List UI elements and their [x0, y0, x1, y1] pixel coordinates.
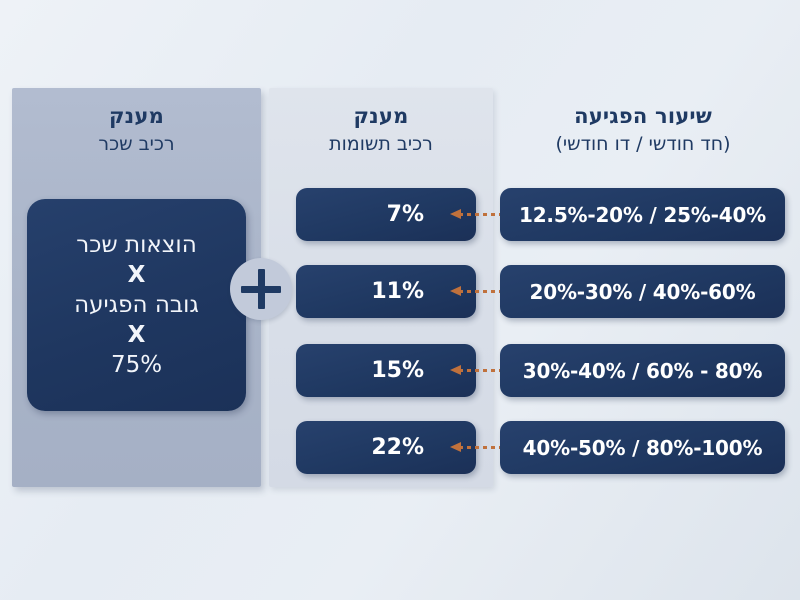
rate-column-subtitle: (חד חודשי / דו חודשי)	[497, 133, 789, 156]
dotted-arrow-left-icon	[450, 212, 500, 217]
rate-column-header: שיעור הפגיעה (חד חודשי / דו חודשי)	[497, 104, 789, 156]
damage-rate-pill: 20%-30% / 40%-60%	[500, 265, 785, 318]
inputs-column-subtitle: רכיב תשומות	[269, 133, 493, 156]
arrow-dots	[459, 290, 500, 293]
inputs-column-header: מענק רכיב תשומות	[269, 104, 493, 156]
table-row: 7% 12.5%-20% / 25%-40%	[0, 188, 800, 241]
dotted-arrow-left-icon	[450, 445, 500, 450]
infographic-canvas: מענק רכיב שכר מענק רכיב תשומות שיעור הפג…	[0, 0, 800, 600]
damage-rate-pill: 12.5%-20% / 25%-40%	[500, 188, 785, 241]
damage-rate-pill: 40%-50% / 80%-100%	[500, 421, 785, 474]
table-row: 22% 40%-50% / 80%-100%	[0, 421, 800, 474]
salary-column-subtitle: רכיב שכר	[12, 133, 261, 156]
grant-percent-pill: 11%	[296, 265, 476, 318]
damage-rate-pill: 30%-40% / 60% - 80%	[500, 344, 785, 397]
inputs-column-title: מענק	[269, 104, 493, 130]
arrow-dots	[459, 446, 500, 449]
table-row: 11% 20%-30% / 40%-60%	[0, 265, 800, 318]
grant-percent-pill: 15%	[296, 344, 476, 397]
arrow-dots	[459, 213, 500, 216]
table-row: 15% 30%-40% / 60% - 80%	[0, 344, 800, 397]
rate-column-title: שיעור הפגיעה	[497, 104, 789, 130]
salary-column-title: מענק	[12, 104, 261, 130]
arrow-dots	[459, 369, 500, 372]
dotted-arrow-left-icon	[450, 289, 500, 294]
salary-column-header: מענק רכיב שכר	[12, 104, 261, 156]
dotted-arrow-left-icon	[450, 368, 500, 373]
grant-percent-pill: 7%	[296, 188, 476, 241]
grant-percent-pill: 22%	[296, 421, 476, 474]
